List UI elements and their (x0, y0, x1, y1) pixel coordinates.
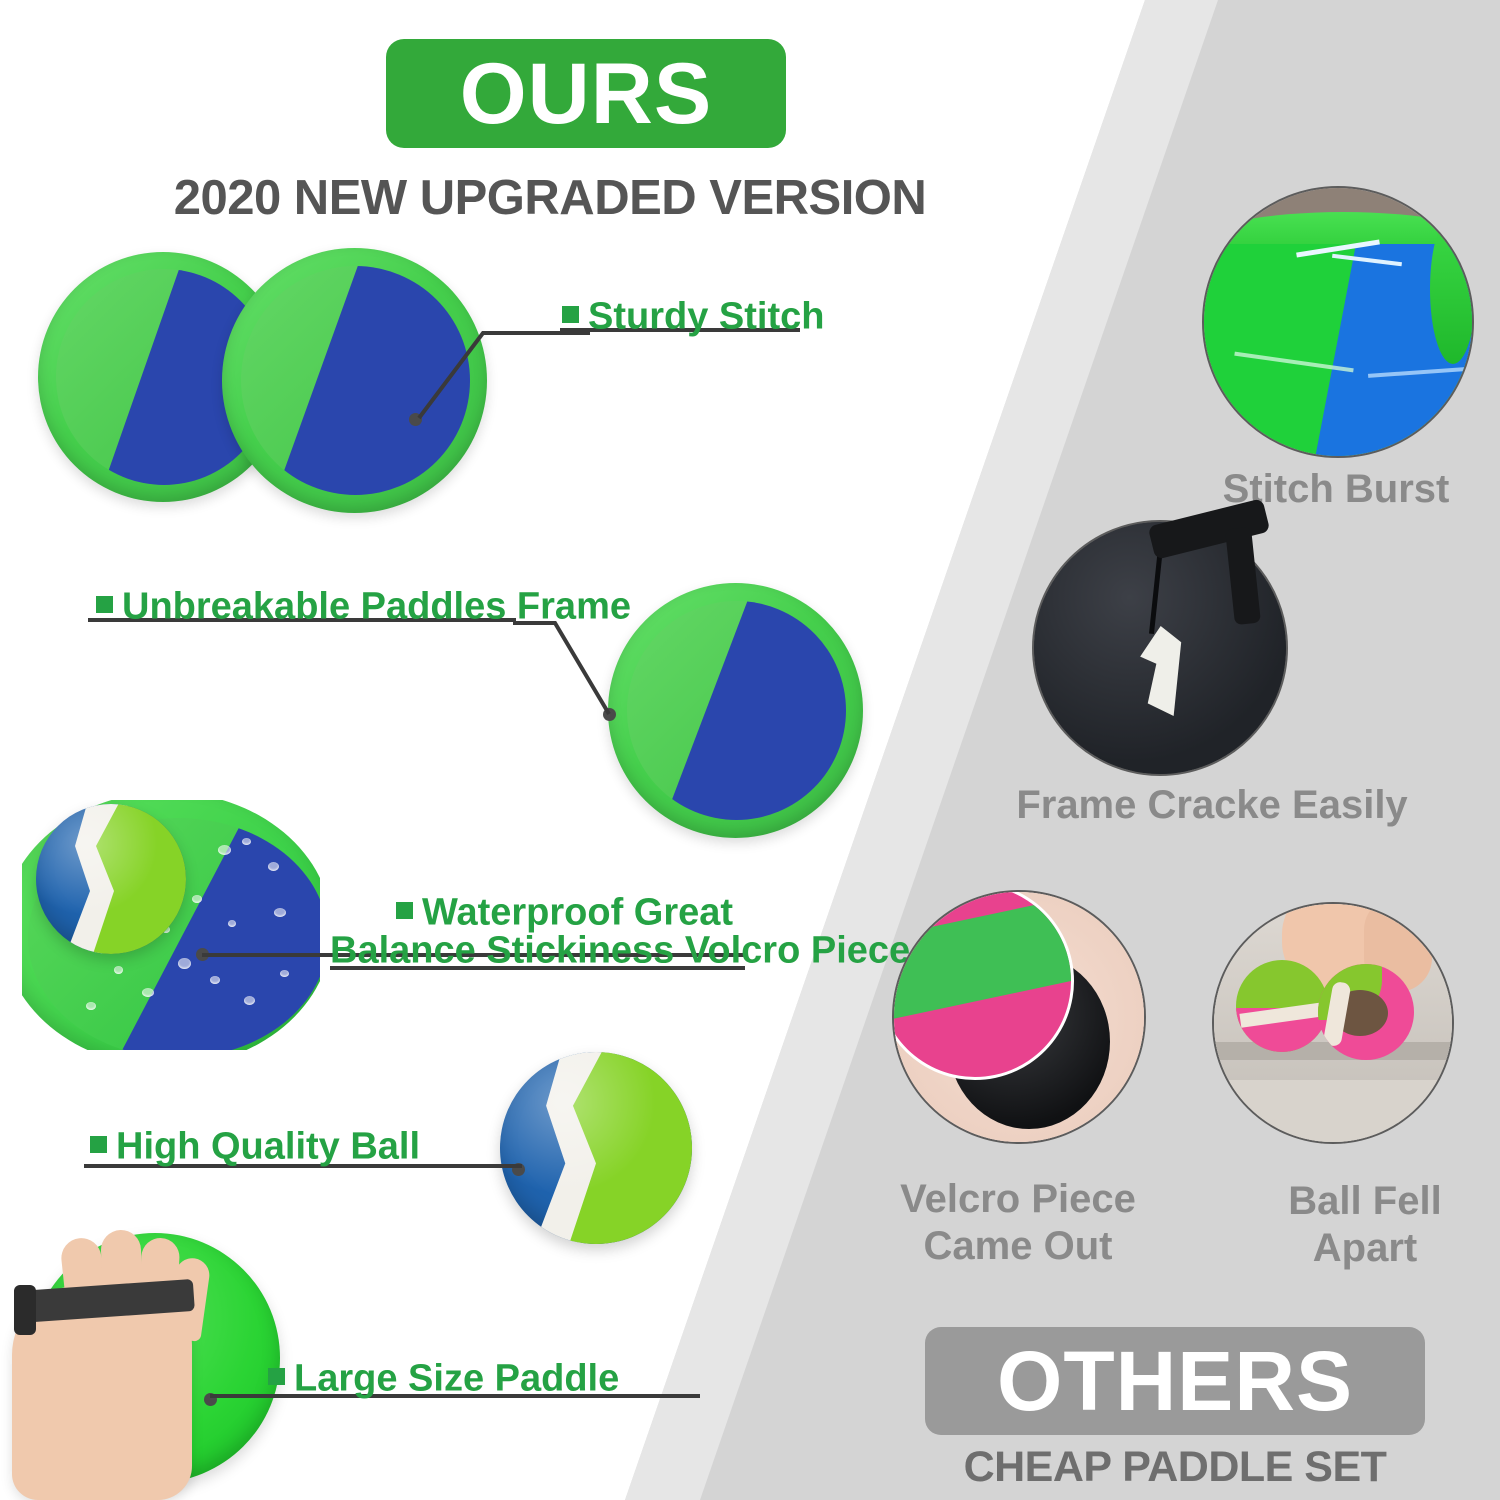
leader-line-sturdy-stitch (405, 330, 595, 425)
defect-label-velcro-came-out: Velcro Piece Came Out (848, 1176, 1188, 1270)
others-subtitle: CHEAP PADDLE SET (905, 1443, 1445, 1492)
defect-label-frame-crack: Frame Cracke Easily (962, 782, 1462, 829)
defect-photo-ball-fell-apart (1212, 902, 1454, 1144)
leader-line-unbreakable-frame (510, 620, 620, 720)
callout-unbreakable-frame: Unbreakable Paddles Frame (96, 584, 631, 628)
defect-photo-stitch-burst (1202, 186, 1474, 458)
bullet-square-icon (396, 902, 413, 919)
paddle-strap-buckle (14, 1285, 36, 1335)
product-photo-high-quality-ball (500, 1052, 692, 1244)
infographic-canvas: OURS 2020 NEW UPGRADED VERSION Sturdy St… (0, 0, 1500, 1500)
callout-large-size-paddle: Large Size Paddle (268, 1356, 619, 1400)
bullet-square-icon (90, 1136, 107, 1153)
callout-high-quality-ball: High Quality Ball (90, 1124, 420, 1168)
defect-label-ball-fell-apart: Ball Fell Apart (1240, 1178, 1490, 1272)
others-badge-label: OTHERS (997, 1339, 1353, 1423)
ours-subtitle: 2020 NEW UPGRADED VERSION (0, 170, 1100, 226)
bullet-square-icon (562, 306, 579, 323)
ours-badge: OURS (386, 39, 786, 148)
callout-waterproof-velcro-line2: Balance Stickiness Volcro Piece (330, 928, 910, 972)
others-badge: OTHERS (925, 1327, 1425, 1435)
product-photo-ball-on-paddle (36, 804, 186, 954)
callout-sturdy-stitch: Sturdy Stitch (562, 294, 824, 338)
bullet-square-icon (268, 1368, 285, 1385)
product-photo-waterproof-closeup (22, 800, 320, 1050)
product-photo-single-paddle (608, 583, 863, 838)
defect-photo-velcro-came-out (892, 890, 1146, 1144)
ours-badge-label: OURS (460, 51, 712, 137)
bullet-square-icon (96, 596, 113, 613)
